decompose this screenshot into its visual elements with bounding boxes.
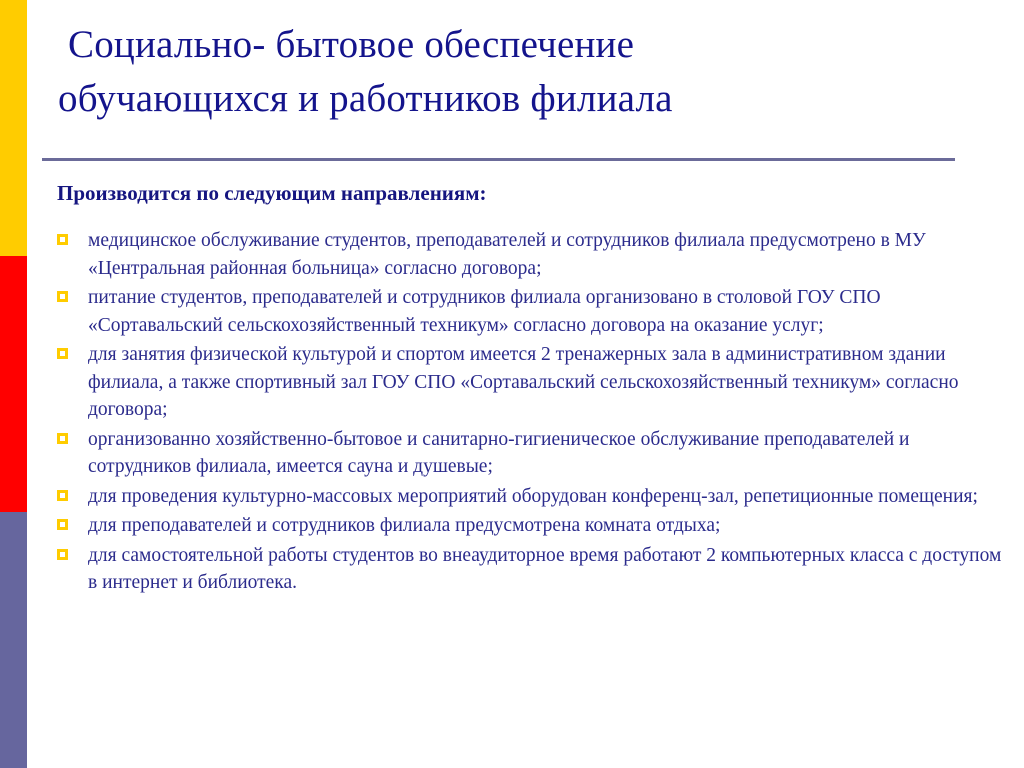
square-bullet-icon	[57, 291, 68, 302]
square-bullet-icon	[57, 519, 68, 530]
list-item-text: для самостоятельной работы студентов во …	[88, 542, 1012, 597]
square-bullet-icon	[57, 490, 68, 501]
list-item: для занятия физической культурой и спорт…	[57, 341, 1012, 424]
square-bullet-icon	[57, 348, 68, 359]
decorative-sidebar	[0, 0, 27, 768]
list-item-text: для преподавателей и сотрудников филиала…	[88, 512, 1012, 540]
title-line-2: обучающихся и работников филиала	[42, 72, 982, 126]
list-item: организованно хозяйственно-бытовое и сан…	[57, 426, 1012, 481]
page-title: Социально- бытовое обеспечение обучающих…	[42, 18, 982, 126]
list-item: для самостоятельной работы студентов во …	[57, 542, 1012, 597]
slide-content: Социально- бытовое обеспечение обучающих…	[27, 0, 1024, 768]
list-item-text: для занятия физической культурой и спорт…	[88, 341, 1012, 424]
title-line-1: Социально- бытовое обеспечение	[42, 18, 982, 72]
subtitle: Производится по следующим направлениям:	[57, 180, 487, 206]
list-item-text: медицинское обслуживание студентов, преп…	[88, 227, 1012, 282]
title-divider	[42, 158, 955, 161]
square-bullet-icon	[57, 549, 68, 560]
list-item: для проведения культурно-массовых меропр…	[57, 483, 1012, 511]
purple-band	[0, 512, 27, 768]
list-item: питание студентов, преподавателей и сотр…	[57, 284, 1012, 339]
square-bullet-icon	[57, 234, 68, 245]
red-band	[0, 256, 27, 512]
list-item-text: для проведения культурно-массовых меропр…	[88, 483, 1012, 511]
list-item: для преподавателей и сотрудников филиала…	[57, 512, 1012, 540]
list-item-text: питание студентов, преподавателей и сотр…	[88, 284, 1012, 339]
bullet-list: медицинское обслуживание студентов, преп…	[57, 227, 1012, 599]
list-item-text: организованно хозяйственно-бытовое и сан…	[88, 426, 1012, 481]
square-bullet-icon	[57, 433, 68, 444]
list-item: медицинское обслуживание студентов, преп…	[57, 227, 1012, 282]
yellow-band	[0, 0, 27, 256]
slide-root: { "slide": { "title": { "line1": "Социал…	[0, 0, 1024, 768]
